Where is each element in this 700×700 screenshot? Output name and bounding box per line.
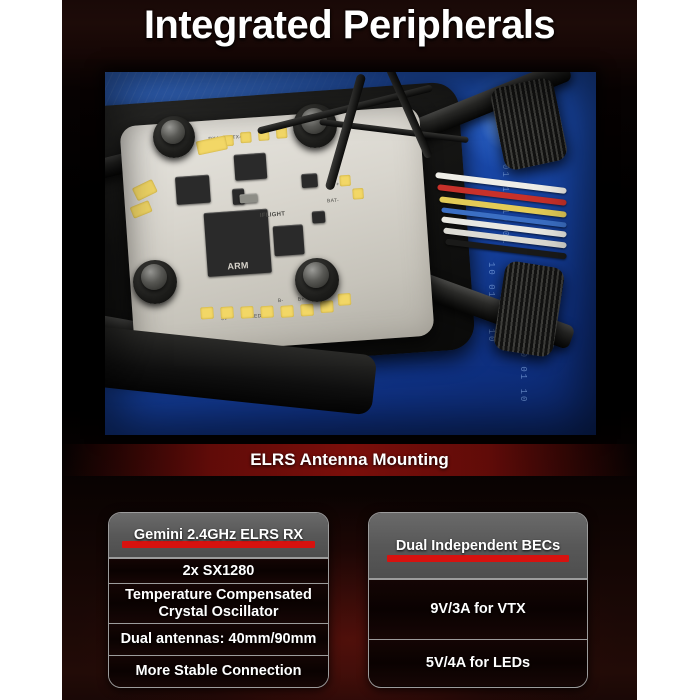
spec-table-dual-independent-becs: Dual Independent BECs 9V/3A for VTX 5V/4… [368,512,588,688]
photo-caption: ELRS Antenna Mounting [62,444,637,476]
spec-row: 5V/4A for LEDs [369,639,587,686]
spec-table-header-label: Gemini 2.4GHz ELRS RX [134,527,303,543]
title-banner: Integrated Peripherals [62,0,637,59]
spec-row: More Stable Connection [109,655,328,687]
dark-content-panel: Integrated Peripherals 01 10 01 10 10 01… [62,0,637,700]
spec-row: 2x SX1280 [109,558,328,583]
header-underline-accent [387,555,569,562]
product-feature-slide: Integrated Peripherals 01 10 01 10 10 01… [0,0,700,700]
spec-table-gemini-elrs-rx: Gemini 2.4GHz ELRS RX 2x SX1280 Temperat… [108,512,329,688]
photo-caption-bar: ELRS Antenna Mounting [62,444,637,476]
spec-table-header: Dual Independent BECs [369,513,587,579]
page-title: Integrated Peripherals [62,3,637,48]
photo-vignette [105,72,596,435]
spec-row: Dual antennas: 40mm/90mm [109,623,328,655]
spec-row: 9V/3A for VTX [369,579,587,639]
fpv-flight-controller-photo: 01 10 01 10 10 01 10 01 01 10 10 01 10 0… [105,72,596,435]
spec-table-header-label: Dual Independent BECs [396,538,560,554]
spec-table-header: Gemini 2.4GHz ELRS RX [109,513,328,558]
spec-row: Temperature Compensated Crystal Oscillat… [109,583,328,623]
